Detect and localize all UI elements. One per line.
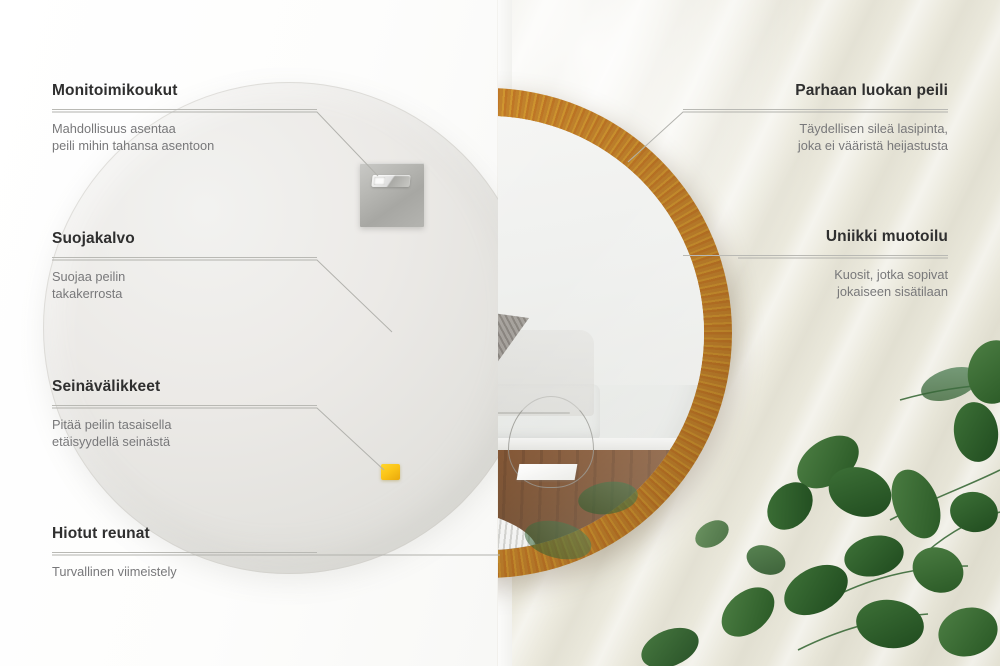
callout-rule: [683, 255, 948, 256]
callout-title: Monitoimikoukut: [52, 82, 317, 100]
callout-title: Suojakalvo: [52, 230, 317, 248]
callout-description: Suojaa peilin takakerrosta: [52, 268, 317, 302]
callout-rule: [52, 552, 317, 553]
callout-rule: [52, 109, 317, 110]
callout-description: Turvallinen viimeistely: [52, 563, 317, 580]
callout-rule: [52, 257, 317, 258]
infographic-canvas: Monitoimikoukut Mahdollisuus asentaa pei…: [0, 0, 1000, 666]
callout-rule: [683, 109, 948, 110]
callout-parhaan-luokan-peili: Parhaan luokan peili Täydellisen sileä l…: [683, 82, 948, 154]
callout-uniikki-muotoilu: Uniikki muotoilu Kuosit, jotka sopivat j…: [683, 228, 948, 300]
callout-title: Seinävälikkeet: [52, 378, 317, 396]
callout-suojakalvo: Suojakalvo Suojaa peilin takakerrosta: [52, 230, 317, 302]
callout-title: Hiotut reunat: [52, 525, 317, 543]
callout-title: Parhaan luokan peili: [683, 82, 948, 100]
callout-description: Kuosit, jotka sopivat jokaiseen sisätila…: [683, 266, 948, 300]
callout-description: Täydellisen sileä lasipinta, joka ei vää…: [683, 120, 948, 154]
callout-monitoimikoukut: Monitoimikoukut Mahdollisuus asentaa pei…: [52, 82, 317, 154]
callout-description: Pitää peilin tasaisella etäisyydellä sei…: [52, 416, 317, 450]
callout-title: Uniikki muotoilu: [683, 228, 948, 246]
callout-hiotut-reunat: Hiotut reunat Turvallinen viimeistely: [52, 525, 317, 580]
callout-description: Mahdollisuus asentaa peili mihin tahansa…: [52, 120, 317, 154]
callout-seinavalikkeet: Seinävälikkeet Pitää peilin tasaisella e…: [52, 378, 317, 450]
callout-rule: [52, 405, 317, 406]
